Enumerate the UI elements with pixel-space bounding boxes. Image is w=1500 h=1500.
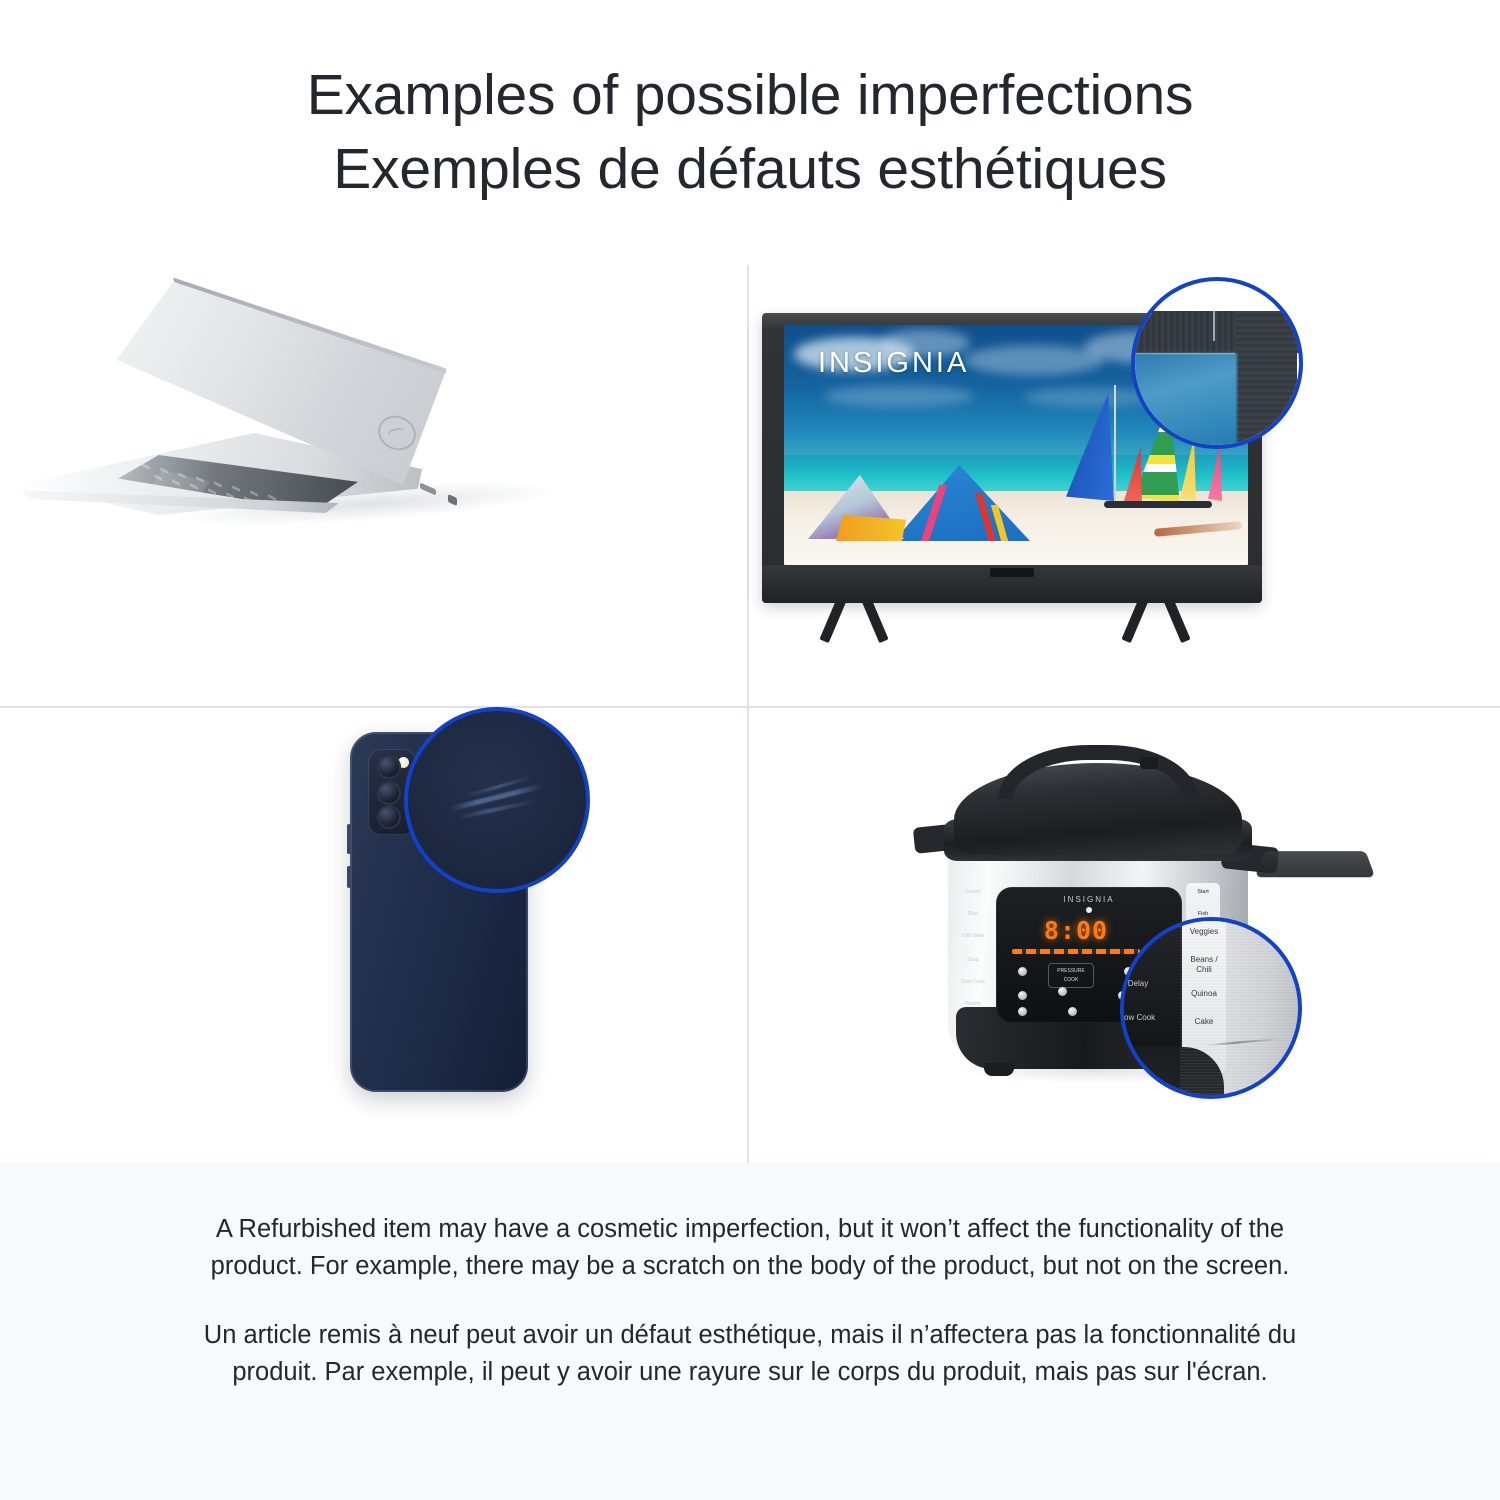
cooker-led-indicator <box>1086 907 1092 913</box>
pressure-cooker-illustration: INSIGNIA 8:00 PRESSURECOOK Cancel <box>748 707 1500 1163</box>
phone-lens-3 <box>377 805 401 829</box>
example-cell-phone <box>0 707 748 1163</box>
page-header: Examples of possible imperfections Exemp… <box>0 0 1500 265</box>
phone-lens-1 <box>377 755 401 779</box>
page-title-en: Examples of possible imperfections <box>307 58 1194 132</box>
cooker-left-label-1[interactable]: Rice <box>960 911 986 917</box>
example-grid: INSIGNIA <box>0 265 1500 1163</box>
infographic-root: Examples of possible imperfections Exemp… <box>0 0 1500 1500</box>
phone-volume-button[interactable] <box>347 824 351 854</box>
footer-paragraph-en: A Refurbished item may have a cosmetic i… <box>190 1211 1310 1285</box>
cooker-zoom-label-slowcook: Slow Cook <box>1120 1013 1158 1022</box>
cooker-left-label-4[interactable]: Slow Cook <box>960 979 986 985</box>
tv-leg-right <box>1120 597 1196 641</box>
magnifier-phone-scuff <box>404 707 590 893</box>
tv-brand-logo: INSIGNIA <box>818 347 969 380</box>
magnifier-cooker-scratch: Veggies Beans / Chili Quinoa Cake Delay … <box>1120 917 1302 1099</box>
tv-tent-orange <box>836 515 906 541</box>
phone-power-button[interactable] <box>347 866 351 888</box>
cooker-btn-minus[interactable] <box>1018 967 1027 976</box>
phone-lens-2 <box>377 781 401 805</box>
cooker-zoom-panel-dark <box>1120 917 1184 1061</box>
tv-illustration: INSIGNIA <box>748 265 1500 707</box>
cooker-lid-label <box>1255 851 1376 877</box>
cooker-zoom-label-0: Veggies <box>1182 927 1226 936</box>
cooker-btn-steam[interactable] <box>1018 1007 1027 1016</box>
cooker-steam-valve-icon[interactable] <box>1140 757 1158 769</box>
cooker-right-label-0[interactable]: Start <box>1186 889 1220 895</box>
cooker-btn-keepwarm[interactable] <box>1058 987 1067 996</box>
laptop-illustration <box>0 265 748 707</box>
tv-zoom-crack-icon <box>1213 311 1215 341</box>
cooker-foot-left <box>984 1063 1014 1076</box>
cooker-zoom-body-curve <box>1120 1047 1224 1099</box>
cooker-mode-button[interactable]: PRESSURECOOK <box>1048 963 1094 988</box>
cooker-brand-logo: INSIGNIA <box>996 895 1182 904</box>
tv-boat-hull <box>1104 501 1212 508</box>
example-cell-tv: INSIGNIA <box>748 265 1500 707</box>
cooker-progress-bar <box>1012 949 1140 954</box>
page-footer: A Refurbished item may have a cosmetic i… <box>0 1163 1500 1500</box>
page-title-fr: Exemples de défauts esthétiques <box>333 132 1167 206</box>
laptop-brand-logo-icon <box>373 412 422 454</box>
magnifier-tv-bezel <box>1131 277 1303 449</box>
tv-zoom-bezel-right <box>1235 311 1297 449</box>
footer-paragraph-fr: Un article remis à neuf peut avoir un dé… <box>190 1317 1310 1391</box>
tv-ir-sensor-icon <box>990 568 1034 577</box>
cooker-btn-manual[interactable] <box>1018 991 1027 1000</box>
cooker-left-label-3[interactable]: Soup <box>960 957 986 963</box>
example-cell-laptop <box>0 265 748 707</box>
cooker-zoom-label-3: Cake <box>1182 1017 1226 1026</box>
tv-mast-1 <box>1114 385 1116 505</box>
example-cell-pressure-cooker: INSIGNIA 8:00 PRESSURECOOK Cancel <box>748 707 1500 1163</box>
cooker-zoom-label-1: Beans / Chili <box>1182 955 1226 975</box>
cooker-left-label-5[interactable]: Poultry <box>960 1001 986 1007</box>
tv-zoom-screen <box>1131 353 1237 449</box>
cooker-lid-handle[interactable] <box>998 745 1198 799</box>
cooker-timer-display: 8:00 <box>1036 915 1116 945</box>
cooker-zoom-label-delay: Delay <box>1120 979 1158 988</box>
cooker-btn-preheat[interactable] <box>1068 1007 1077 1016</box>
tv-leg-left <box>818 597 894 641</box>
cooker-zoom-label-2: Quinoa <box>1182 989 1226 998</box>
phone-illustration <box>0 707 748 1163</box>
cooker-left-label-0[interactable]: Cancel <box>960 889 986 895</box>
cooker-left-label-2[interactable]: Chili Stew <box>960 933 986 939</box>
